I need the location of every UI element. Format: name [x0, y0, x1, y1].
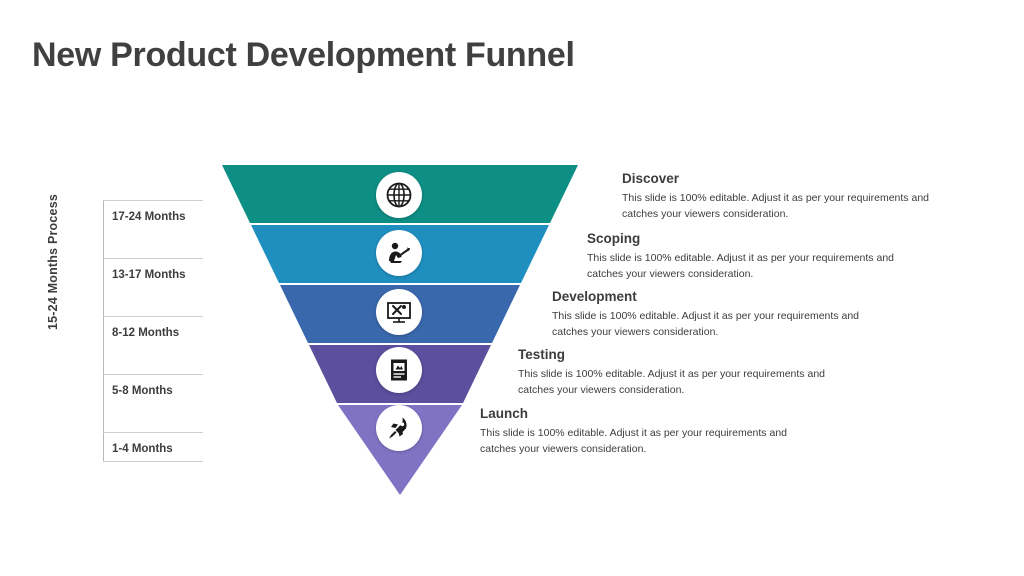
bracket-tick [103, 316, 203, 317]
step-text-scoping: Scoping This slide is 100% editable. Adj… [587, 231, 917, 283]
step-title-discover: Discover [622, 171, 952, 186]
step-desc-scoping: This slide is 100% editable. Adjust it a… [587, 251, 917, 283]
axis-label: 15-24 Months Process [46, 194, 60, 330]
step-title-scoping: Scoping [587, 231, 917, 246]
rocket-icon[interactable] [376, 405, 422, 451]
page-title: New Product Development Funnel [32, 36, 575, 75]
globe-icon[interactable] [376, 172, 422, 218]
step-title-development: Development [552, 289, 882, 304]
step-desc-launch: This slide is 100% editable. Adjust it a… [480, 426, 810, 458]
step-desc-testing: This slide is 100% editable. Adjust it a… [518, 367, 848, 399]
whiteboard-tools-icon[interactable] [376, 289, 422, 335]
step-desc-discover: This slide is 100% editable. Adjust it a… [622, 191, 952, 223]
step-title-testing: Testing [518, 347, 848, 362]
tick-label-13-17-months: 13-17 Months [112, 269, 186, 281]
step-text-launch: Launch This slide is 100% editable. Adju… [480, 406, 810, 458]
step-text-testing: Testing This slide is 100% editable. Adj… [518, 347, 848, 399]
presenter-icon[interactable] [376, 230, 422, 276]
bracket-vertical-line [103, 200, 104, 462]
slide-canvas: New Product Development Funnel 15-24 Mon… [0, 0, 1024, 576]
checklist-icon[interactable] [376, 347, 422, 393]
bracket-tick [103, 258, 203, 259]
step-text-discover: Discover This slide is 100% editable. Ad… [622, 171, 952, 223]
bracket-tick [103, 374, 203, 375]
bracket-tick [103, 200, 203, 201]
tick-label-8-12-months: 8-12 Months [112, 327, 179, 339]
tick-label-5-8-months: 5-8 Months [112, 385, 173, 397]
step-title-launch: Launch [480, 406, 810, 421]
step-desc-development: This slide is 100% editable. Adjust it a… [552, 309, 882, 341]
bracket-tick [103, 432, 203, 433]
step-text-development: Development This slide is 100% editable.… [552, 289, 882, 341]
bracket-tick [103, 461, 203, 462]
tick-label-1-4-months: 1-4 Months [112, 443, 173, 455]
tick-label-17-24-months: 17-24 Months [112, 211, 186, 223]
